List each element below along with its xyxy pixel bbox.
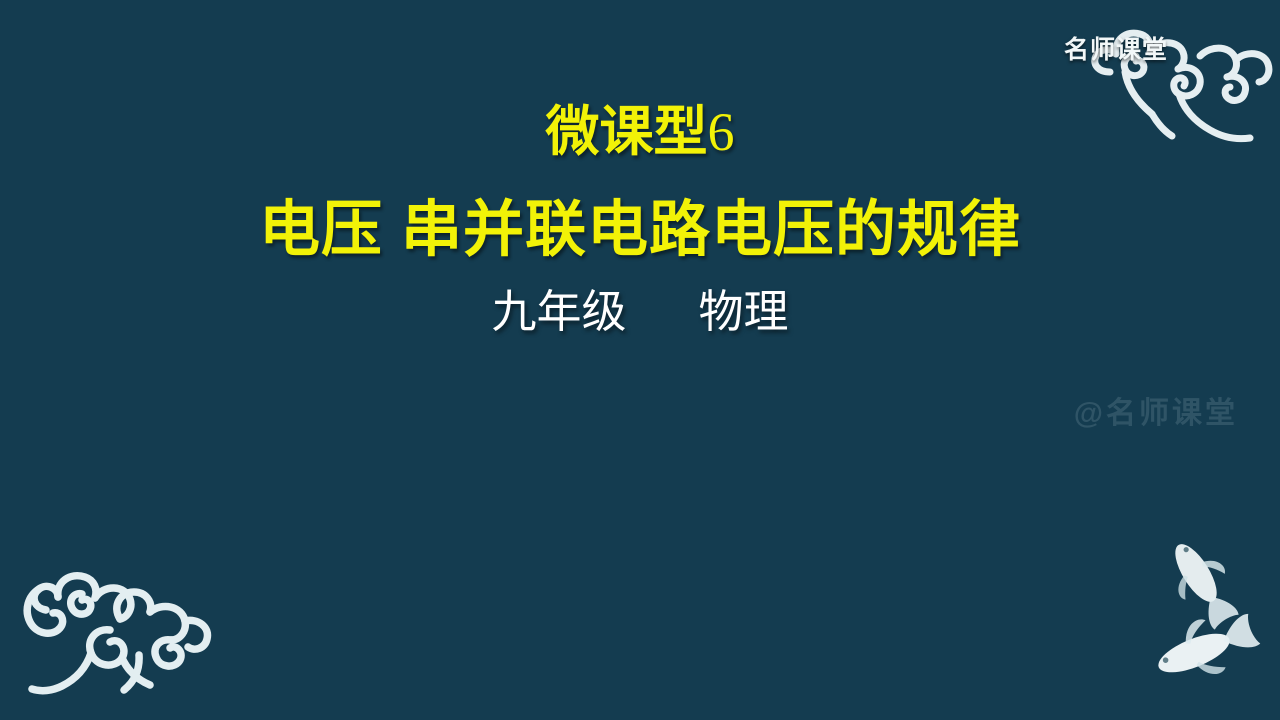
brand-name: 名师课堂 [1064, 30, 1168, 66]
course-label-number: 6 [708, 102, 735, 162]
title-slide: 名师课堂 @名师课堂 微课型6 电压 串并联电路电压的规律 九年级物理 [0, 0, 1280, 720]
lesson-meta: 九年级物理 [0, 287, 1280, 337]
fish-icon-lower [1148, 602, 1262, 694]
fish-icon-group [1142, 535, 1262, 700]
watermark: @名师课堂 [1074, 388, 1238, 432]
fish-icon-upper [1157, 535, 1250, 636]
lesson-title: 电压 串并联电路电压的规律 [0, 197, 1280, 263]
cloud-icon-bottom-left [8, 552, 223, 712]
title-block: 微课型6 电压 串并联电路电压的规律 九年级物理 [0, 104, 1280, 337]
subject-label: 物理 [699, 286, 789, 337]
course-label: 微课型6 [0, 104, 1280, 161]
grade-label: 九年级 [491, 286, 626, 337]
course-label-text: 微课型 [546, 102, 708, 162]
